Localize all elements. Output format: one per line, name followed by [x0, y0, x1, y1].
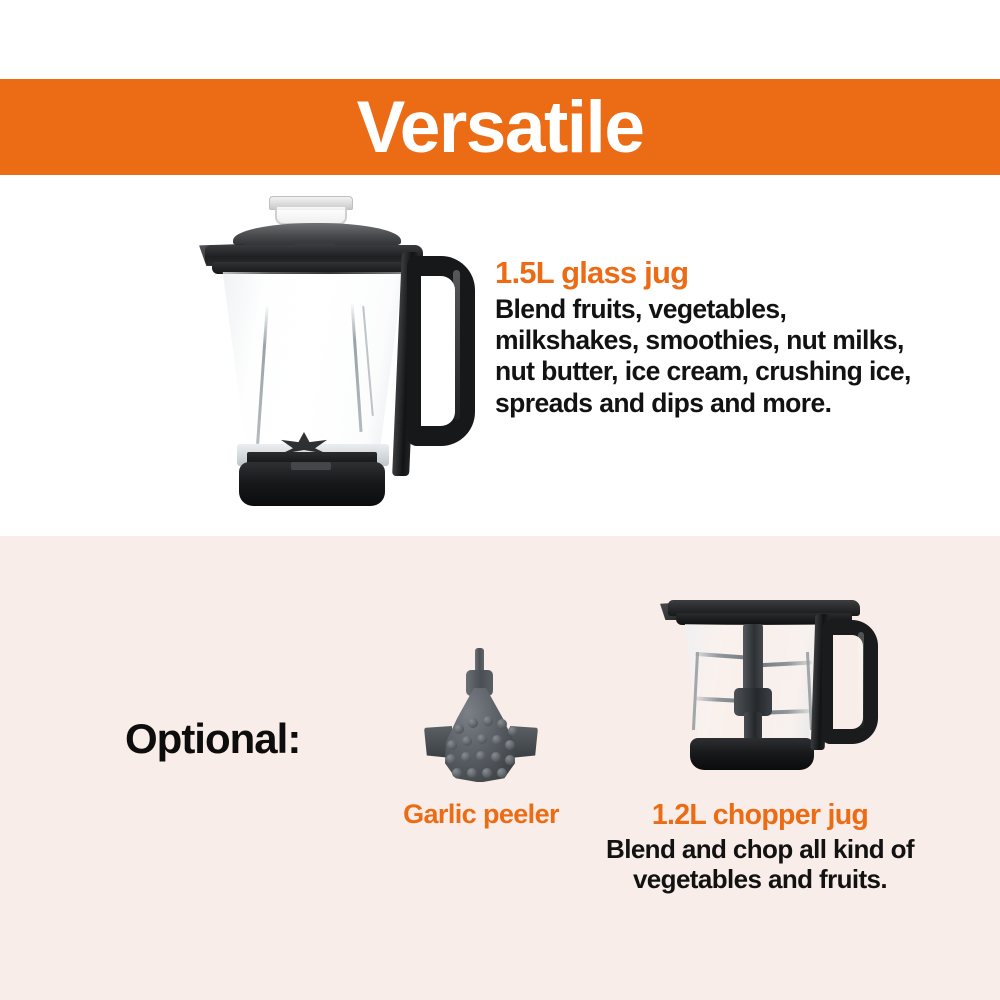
peeler-nubs-group-icon	[442, 688, 518, 782]
glass-blender-jug-image	[185, 196, 485, 511]
chopper-handle-highlight-icon	[858, 632, 864, 728]
product-feature-page: Versatile 1.5L glass jug Blend fruits, v…	[0, 0, 1000, 1000]
chopper-jug-description: Blend and chop all kind of vegetables an…	[580, 834, 940, 894]
jug-handle-icon	[407, 256, 475, 446]
page-title: Versatile	[357, 91, 644, 164]
jug-handle-highlight-icon	[453, 270, 460, 420]
chopper-jug-heading: 1.2L chopper jug	[580, 800, 940, 832]
chopper-jug-text-block: 1.2L chopper jug Blend and chop all kind…	[580, 800, 940, 894]
chopper-base-icon	[690, 738, 814, 770]
glass-jug-description: Blend fruits, vegetables, milkshakes, sm…	[495, 294, 935, 419]
glass-jug-heading: 1.5L glass jug	[495, 256, 935, 291]
chopper-handle-icon	[822, 620, 878, 744]
chopper-shaft-icon	[743, 624, 763, 698]
garlic-peeler-heading: Garlic peeler	[350, 800, 612, 830]
jug-base-notch-icon	[291, 462, 331, 470]
chopper-jug-image	[650, 600, 890, 790]
optional-label: Optional:	[125, 718, 300, 760]
chopper-lower-stem-icon	[744, 712, 762, 740]
versatile-banner: Versatile	[0, 79, 1000, 175]
glass-jug-text-block: 1.5L glass jug Blend fruits, vegetables,…	[495, 256, 935, 419]
garlic-peeler-image	[424, 648, 538, 788]
jug-glass-body-icon	[219, 272, 407, 459]
